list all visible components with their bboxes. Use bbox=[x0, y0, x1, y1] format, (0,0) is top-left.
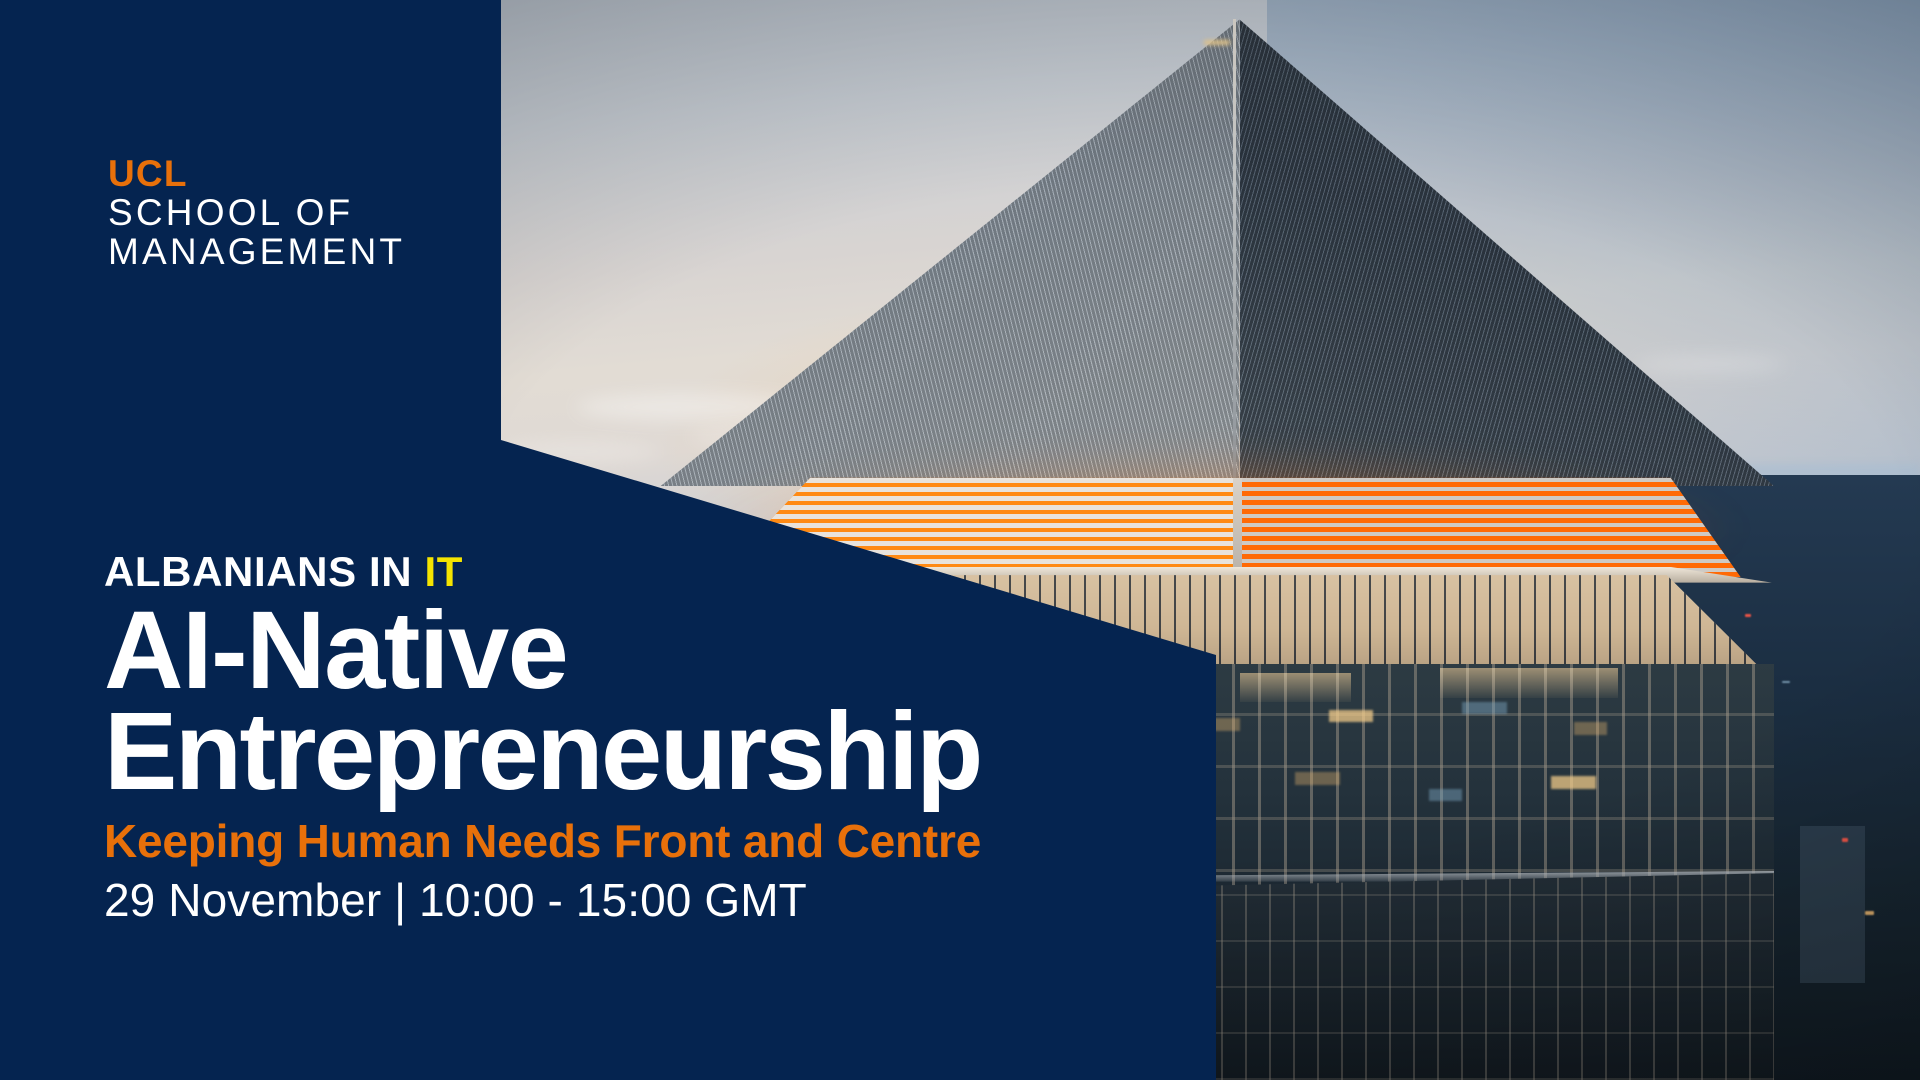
eyebrow-prefix: ALBANIANS IN bbox=[104, 548, 424, 595]
logo-ucl-text: UCL bbox=[108, 155, 405, 192]
lit-floor-band bbox=[1440, 668, 1618, 697]
ucl-logo: UCL SCHOOL OF MANAGEMENT bbox=[108, 155, 405, 270]
logo-school-of-text: SCHOOL OF bbox=[108, 194, 405, 231]
pyramid-face-lit bbox=[660, 19, 1239, 486]
pyramid-tip-light bbox=[1204, 40, 1230, 45]
page-title: AI-NativeEntrepreneurship bbox=[104, 600, 1184, 802]
eyebrow-highlight: IT bbox=[424, 548, 463, 595]
pyramid-face-shadow bbox=[1240, 19, 1775, 486]
title-line-2: Entrepreneurship bbox=[104, 701, 1184, 802]
band-corner-mullion bbox=[1233, 478, 1242, 580]
lit-floor-band bbox=[1240, 673, 1351, 702]
pyramid-ridge bbox=[1233, 19, 1236, 486]
event-datetime: 29 November | 10:00 - 15:00 GMT bbox=[104, 874, 1184, 927]
pyramid-roof bbox=[660, 19, 1774, 486]
eyebrow-line: ALBANIANS IN IT bbox=[104, 550, 1184, 594]
louvre-band-right bbox=[1240, 478, 1741, 578]
poster-copy-block: ALBANIANS IN IT AI-NativeEntrepreneurshi… bbox=[104, 550, 1184, 927]
setback-block bbox=[1173, 873, 1774, 1080]
logo-management-text: MANAGEMENT bbox=[108, 233, 405, 270]
subtitle: Keeping Human Needs Front and Centre bbox=[104, 816, 1184, 868]
event-poster: UCL SCHOOL OF MANAGEMENT ALBANIANS IN IT… bbox=[0, 0, 1920, 1080]
